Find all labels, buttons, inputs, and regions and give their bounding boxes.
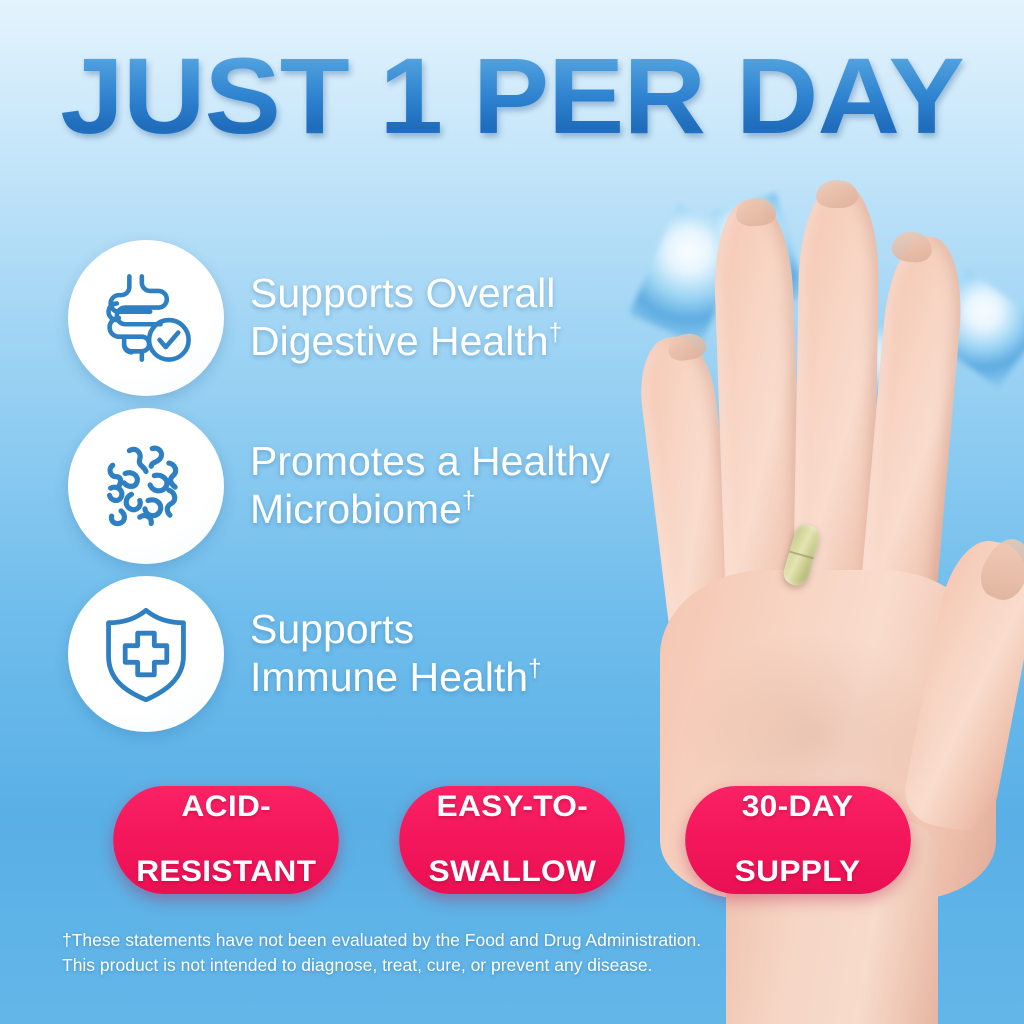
- disclaimer-line-2: This product is not intended to diagnose…: [62, 953, 742, 978]
- benefit-line-1: Promotes a Healthy: [250, 438, 610, 486]
- benefit-label: Supports Immune Health†: [250, 606, 542, 701]
- middle-nail: [816, 180, 858, 208]
- dagger-symbol: †: [528, 655, 542, 682]
- benefit-label: Supports Overall Digestive Health†: [250, 270, 562, 365]
- benefit-line-2: Digestive Health†: [250, 318, 562, 366]
- benefit-row-digestive-health: Supports Overall Digestive Health†: [68, 240, 562, 396]
- dagger-symbol: †: [549, 319, 563, 346]
- microbiome-bacteria-icon: [68, 408, 224, 564]
- badge-easy-to-swallow: EASY-TO- SWALLOW: [399, 786, 625, 894]
- badge-line-1: 30-DAY: [735, 791, 861, 823]
- benefit-line-2: Immune Health†: [250, 654, 542, 702]
- badge-line-1: EASY-TO-: [428, 791, 596, 823]
- benefit-label: Promotes a Healthy Microbiome†: [250, 438, 610, 533]
- fda-disclaimer: †These statements have not been evaluate…: [62, 928, 742, 979]
- benefit-line-2: Microbiome†: [250, 486, 610, 534]
- badge-acid-resistant: ACID- RESISTANT: [113, 786, 339, 894]
- badge-line-2: RESISTANT: [136, 856, 316, 888]
- shield-cross-icon: [68, 576, 224, 732]
- benefit-line-1: Supports Overall: [250, 270, 562, 318]
- index-nail: [891, 230, 934, 264]
- badge-line-2: SUPPLY: [735, 856, 861, 888]
- badge-line-1: ACID-: [136, 791, 316, 823]
- promo-image: JUST 1 PER DAY Supports Overall Digestiv…: [0, 0, 1024, 1024]
- badge-30-day-supply: 30-DAY SUPPLY: [685, 786, 911, 894]
- benefit-row-immune-health: Supports Immune Health†: [68, 576, 542, 732]
- page-title: JUST 1 PER DAY: [0, 42, 1024, 150]
- dagger-symbol: †: [462, 487, 476, 514]
- feature-badges: ACID- RESISTANT EASY-TO- SWALLOW 30-DAY …: [0, 786, 1024, 894]
- disclaimer-line-1: †These statements have not been evaluate…: [62, 928, 742, 953]
- benefit-line-1: Supports: [250, 606, 542, 654]
- benefit-row-microbiome: Promotes a Healthy Microbiome†: [68, 408, 610, 564]
- intestine-check-icon: [68, 240, 224, 396]
- open-palm-hand: [640, 160, 1024, 1024]
- badge-line-2: SWALLOW: [428, 856, 596, 888]
